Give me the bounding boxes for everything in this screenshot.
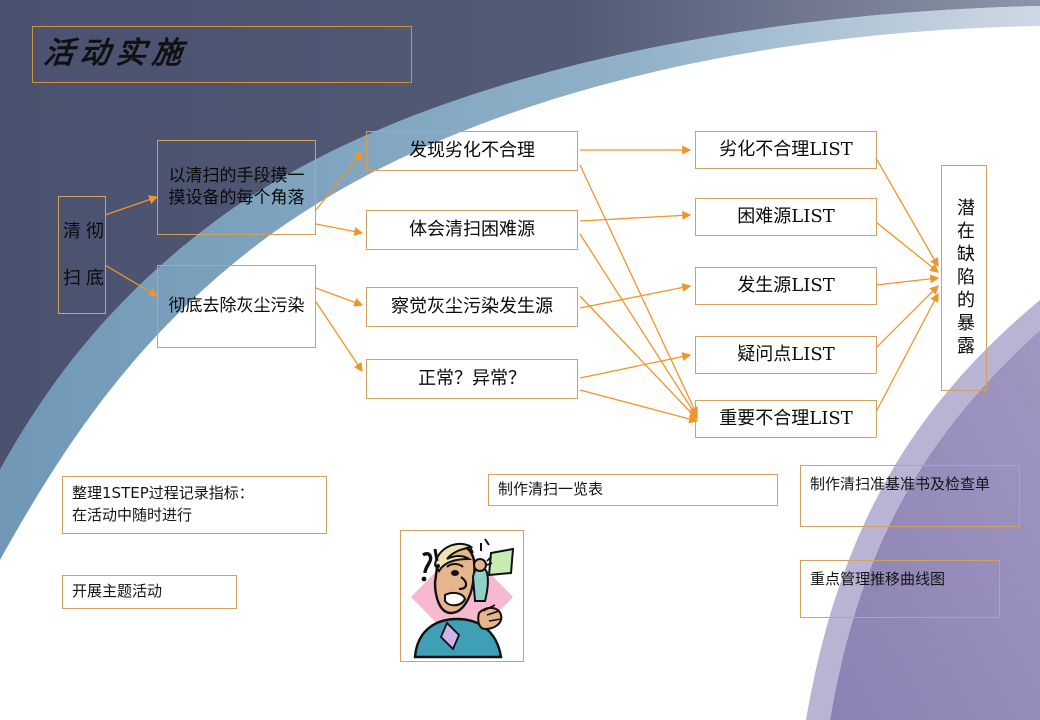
flow-list-e-label: 重要不合理LIST [719, 407, 852, 430]
flow-l2b-label: 体会清扫困难源 [409, 218, 535, 241]
note-3-label: 制作清扫一览表 [498, 479, 603, 501]
flow-list-c-box[interactable]: 发生源LIST [695, 267, 877, 305]
flow-l1b-box[interactable]: 彻底去除灰尘污染 [157, 265, 316, 348]
note-3-box[interactable]: 制作清扫一览表 [488, 474, 778, 506]
flow-list-e-box[interactable]: 重要不合理LIST [695, 400, 877, 438]
flow-l2c-label: 察觉灰尘污染发生源 [391, 295, 553, 318]
note-5-label: 重点管理推移曲线图 [810, 569, 945, 591]
flow-result-label: 潜在缺陷的暴露 [955, 198, 973, 359]
clipart-frame [400, 530, 524, 662]
flow-list-d-label: 疑问点LIST [737, 343, 834, 366]
note-2-label: 开展主题活动 [72, 581, 162, 603]
slide-canvas: 活动实施 [0, 0, 1040, 720]
note-4-box[interactable]: 制作清扫准基准书及检查单 [800, 465, 1020, 527]
page-title: 活动实施 [41, 28, 190, 80]
note-1-box[interactable]: 整理1STEP过程记录指标： 在活动中随时进行 [62, 476, 327, 534]
flow-start-label: 彻 底 清 扫 [59, 199, 105, 311]
flow-result-box[interactable]: 潜在缺陷的暴露 [941, 165, 987, 391]
flow-l1a-label: 以清扫的手段摸一摸设备的每个角落 [162, 166, 311, 210]
flow-l2d-label: 正常？异常？ [418, 367, 526, 390]
note-1-label: 整理1STEP过程记录指标： 在活动中随时进行 [72, 483, 254, 527]
flow-list-c-label: 发生源LIST [737, 274, 834, 297]
flow-l2d-box[interactable]: 正常？异常？ [366, 359, 578, 399]
flow-l1a-box[interactable]: 以清扫的手段摸一摸设备的每个角落 [157, 140, 316, 235]
flow-list-b-label: 困难源LIST [737, 205, 834, 228]
flow-l2b-box[interactable]: 体会清扫困难源 [366, 210, 578, 250]
surprised-man-cartoon-icon [401, 531, 523, 661]
flow-l2c-box[interactable]: 察觉灰尘污染发生源 [366, 287, 578, 327]
flow-l2a-label: 发现劣化不合理 [409, 139, 535, 162]
note-5-box[interactable]: 重点管理推移曲线图 [800, 560, 1000, 618]
flow-l2a-box[interactable]: 发现劣化不合理 [366, 131, 578, 171]
flow-list-a-box[interactable]: 劣化不合理LIST [695, 131, 877, 169]
flow-list-d-box[interactable]: 疑问点LIST [695, 336, 877, 374]
note-2-box[interactable]: 开展主题活动 [62, 575, 237, 609]
flow-start-box[interactable]: 彻 底 清 扫 [58, 196, 106, 314]
flow-list-a-label: 劣化不合理LIST [719, 138, 852, 161]
note-4-label: 制作清扫准基准书及检查单 [810, 474, 990, 496]
flow-list-b-box[interactable]: 困难源LIST [695, 198, 877, 236]
flow-l1b-label: 彻底去除灰尘污染 [169, 296, 305, 318]
